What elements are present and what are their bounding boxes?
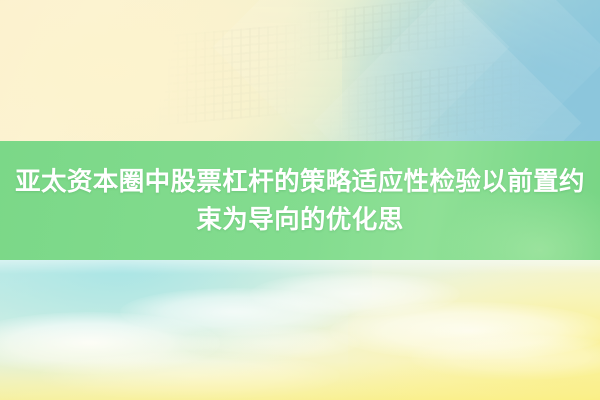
cloud-shape [410,334,600,380]
cloud-shape [250,272,460,316]
green-title-band: 亚太资本圈中股票杠杆的策略适应性检验以前置约 束为导向的优化思 [0,141,600,260]
cloud-shape [40,352,340,400]
cloud-shape [0,312,220,374]
building-window-grid [300,0,470,63]
cream-light-wash [0,0,360,141]
teal-sky-wash [0,260,372,386]
cloud-shape [120,288,350,336]
building-window-grid [150,23,300,126]
cloud-shape [330,302,600,360]
page-title-line-1: 亚太资本圈中股票杠杆的策略适应性检验以前置约 [15,163,585,201]
teal-light-wash [342,0,600,141]
building-prism-icon [213,0,510,141]
building-window-grid [330,58,520,141]
yellow-sky-wash-bottom [0,324,600,400]
building-prism-icon [313,0,582,141]
page-title-line-2: 束为导向的优化思 [196,201,403,239]
article-title-banner: 亚太资本圈中股票杠杆的策略适应性检验以前置约 束为导向的优化思 [0,0,600,400]
building-prism-icon [399,0,600,141]
cloud-shape [180,326,360,360]
sky-gradient-band [0,260,600,400]
horizon-haze [0,260,600,274]
yellow-sky-wash-right [348,266,600,400]
cityscape-gradient-band [0,0,600,141]
skyline-silhouette [0,0,600,141]
